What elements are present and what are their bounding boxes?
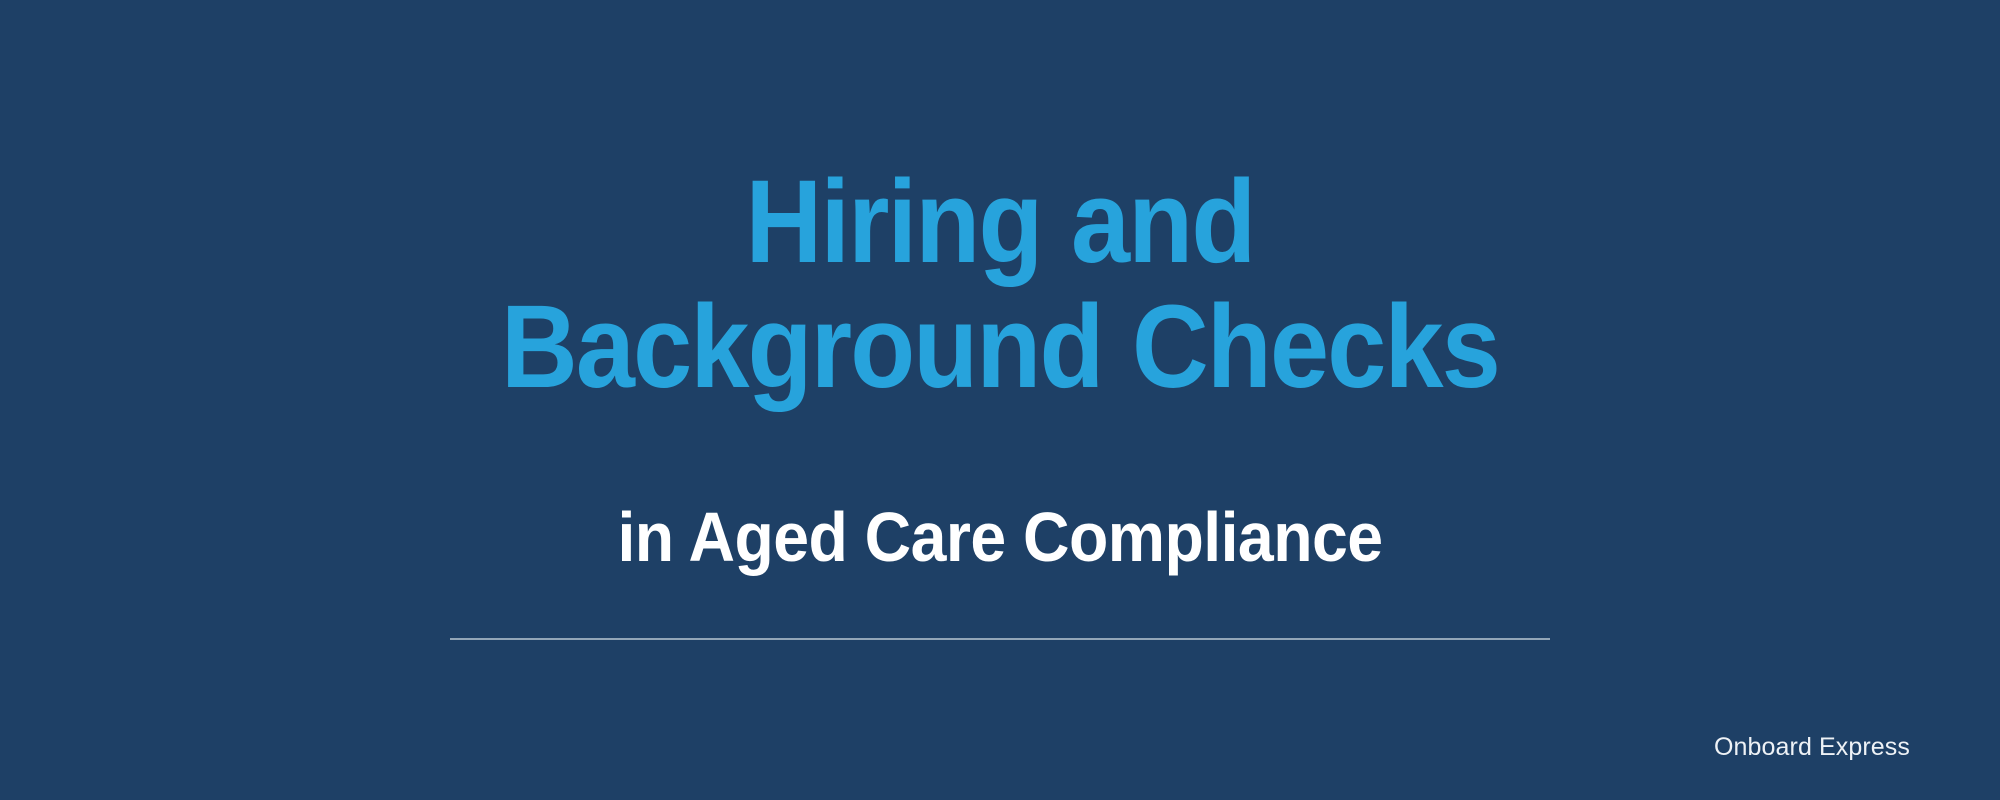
title-slide: Hiring and Background Checks in Aged Car… — [0, 0, 2000, 800]
page-subtitle: in Aged Care Compliance — [430, 498, 1571, 576]
title-block: Hiring and Background Checks — [380, 160, 1620, 410]
brand-label: Onboard Express — [1714, 732, 1910, 762]
subtitle-block: in Aged Care Compliance — [380, 498, 1620, 576]
horizontal-divider — [450, 638, 1550, 640]
slide-content: Hiring and Background Checks in Aged Car… — [0, 0, 2000, 800]
page-title: Hiring and Background Checks — [442, 160, 1558, 410]
footer: Onboard Express — [1714, 732, 1910, 762]
